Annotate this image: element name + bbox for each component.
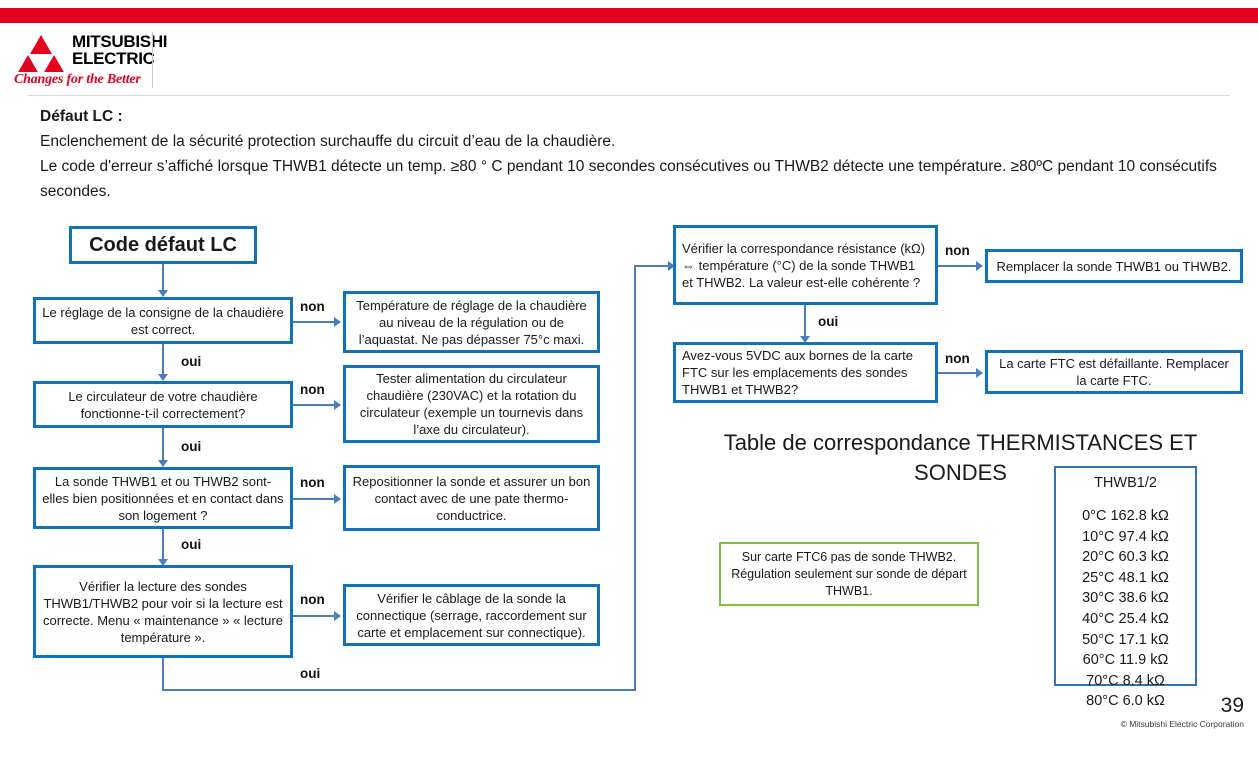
connector-q4-to-a4 [293, 615, 335, 617]
flow-question-1[interactable]: Le réglage de la consigne de la chaudièr… [33, 297, 293, 344]
arrow-q3-to-a3-icon [334, 494, 341, 504]
intro-line-1: Enclenchement de la sécurité protection … [40, 129, 1240, 154]
flow-answer-1[interactable]: Température de réglage de la chaudière a… [343, 291, 600, 353]
connector-q4-down [162, 658, 164, 691]
label-non-q1: non [300, 299, 325, 314]
flow-answer-5-label: Remplacer la sonde THWB1 ou THWB2. [996, 258, 1231, 275]
logo-divider [152, 32, 153, 88]
connector-bottom-horizontal [162, 689, 636, 691]
flow-question-4[interactable]: Vérifier la lecture des sondes THWB1/THW… [33, 565, 293, 658]
label-oui-q4: oui [300, 666, 320, 681]
intro-title: Défaut LC : [40, 104, 1240, 129]
flow-question-2[interactable]: Le circulateur de votre chaudière foncti… [33, 381, 293, 428]
connector-q2-to-q3 [162, 428, 164, 462]
mitsubishi-electric-logo: MITSUBISHI ELECTRIC Changes for the Bett… [14, 32, 166, 88]
flow-question-3[interactable]: La sonde THWB1 et ou THWB2 sont-elles bi… [33, 467, 293, 529]
connector-q1-to-a1 [293, 321, 335, 323]
connector-q5-to-a5 [938, 265, 978, 267]
thermistor-table-header: THWB1/2 [1056, 468, 1195, 506]
label-oui-q2: oui [181, 439, 201, 454]
thermistor-table-rows: 0°C 162.8 kΩ 10°C 97.4 kΩ 20°C 60.3 kΩ 2… [1056, 506, 1195, 712]
flow-question-2-label: Le circulateur de votre chaudière foncti… [42, 388, 284, 422]
connector-q1-to-q2 [162, 344, 164, 376]
header-red-bar [0, 8, 1258, 23]
arrow-q2-to-q3-icon [158, 460, 168, 467]
flow-answer-4-label: Vérifier le câblage de la sonde la conne… [352, 590, 591, 641]
label-oui-q5: oui [818, 314, 838, 329]
label-non-q5: non [945, 243, 970, 258]
flow-answer-2-label: Tester alimentation du circulateur chaud… [352, 370, 591, 438]
arrow-start-to-q1-icon [158, 290, 168, 297]
arrow-q1-to-a1-icon [334, 317, 341, 327]
flow-answer-3[interactable]: Repositionner la sonde et assurer un bon… [343, 465, 600, 531]
connector-q3-to-a3 [293, 498, 335, 500]
note-ftc6-label: Sur carte FTC6 pas de sonde THWB2. Régul… [727, 549, 971, 600]
flow-question-6[interactable]: Avez-vous 5VDC aux bornes de la carte FT… [673, 342, 938, 403]
label-oui-q1: oui [181, 354, 201, 369]
connector-q3-to-q4 [162, 529, 164, 561]
connector-right-vertical-up [634, 265, 636, 691]
header-separator [28, 95, 1230, 96]
flow-question-1-label: Le réglage de la consigne de la chaudièr… [42, 304, 284, 338]
connector-q6-to-a6 [938, 372, 978, 374]
flow-answer-3-label: Repositionner la sonde et assurer un bon… [352, 473, 591, 524]
flow-answer-5[interactable]: Remplacer la sonde THWB1 ou THWB2. [985, 249, 1243, 283]
note-ftc6: Sur carte FTC6 pas de sonde THWB2. Régul… [719, 542, 979, 606]
label-non-q4: non [300, 592, 325, 607]
copyright-notice: © Mitsubishi Electric Corporation [1121, 719, 1244, 729]
flow-answer-1-label: Température de réglage de la chaudière a… [352, 297, 591, 348]
flow-answer-6[interactable]: La carte FTC est défaillante. Remplacer … [985, 350, 1243, 394]
label-non-q3: non [300, 475, 325, 490]
page-number: 39 [1221, 694, 1244, 718]
intro-block: Défaut LC : Enclenchement de la sécurité… [40, 104, 1240, 204]
flow-question-4-label: Vérifier la lecture des sondes THWB1/THW… [42, 578, 284, 646]
flow-start-code-defaut-lc[interactable]: Code défaut LC [69, 226, 257, 264]
thermistor-table: THWB1/2 0°C 162.8 kΩ 10°C 97.4 kΩ 20°C 6… [1054, 466, 1197, 686]
arrow-q4-to-a4-icon [334, 611, 341, 621]
arrow-q1-to-q2-icon [158, 374, 168, 381]
flow-answer-6-label: La carte FTC est défaillante. Remplacer … [994, 355, 1234, 389]
arrow-q6-to-a6-icon [976, 368, 983, 378]
intro-line-2: Le code d'erreur s’affiché lorsque THWB1… [40, 154, 1240, 204]
flow-answer-2[interactable]: Tester alimentation du circulateur chaud… [343, 365, 600, 443]
flow-start-label: Code défaut LC [89, 237, 237, 254]
connector-start-to-q1 [162, 264, 164, 292]
flow-question-3-label: La sonde THWB1 et ou THWB2 sont-elles bi… [42, 473, 284, 524]
logo-tagline: Changes for the Better [14, 72, 141, 88]
connector-q2-to-a2 [293, 404, 335, 406]
connector-q5-to-q6 [804, 305, 806, 338]
flow-answer-4[interactable]: Vérifier le câblage de la sonde la conne… [343, 584, 600, 646]
arrow-q2-to-a2-icon [334, 400, 341, 410]
arrow-q5-to-a5-icon [976, 261, 983, 271]
flow-question-5[interactable]: Vérifier la correspondance résistance (k… [673, 225, 938, 305]
mitsubishi-diamonds-icon [14, 34, 68, 72]
flow-question-5-label: Vérifier la correspondance résistance (k… [682, 240, 929, 291]
label-non-q6: non [945, 351, 970, 366]
label-non-q2: non [300, 382, 325, 397]
label-oui-q3: oui [181, 537, 201, 552]
flow-question-6-label: Avez-vous 5VDC aux bornes de la carte FT… [682, 347, 929, 398]
